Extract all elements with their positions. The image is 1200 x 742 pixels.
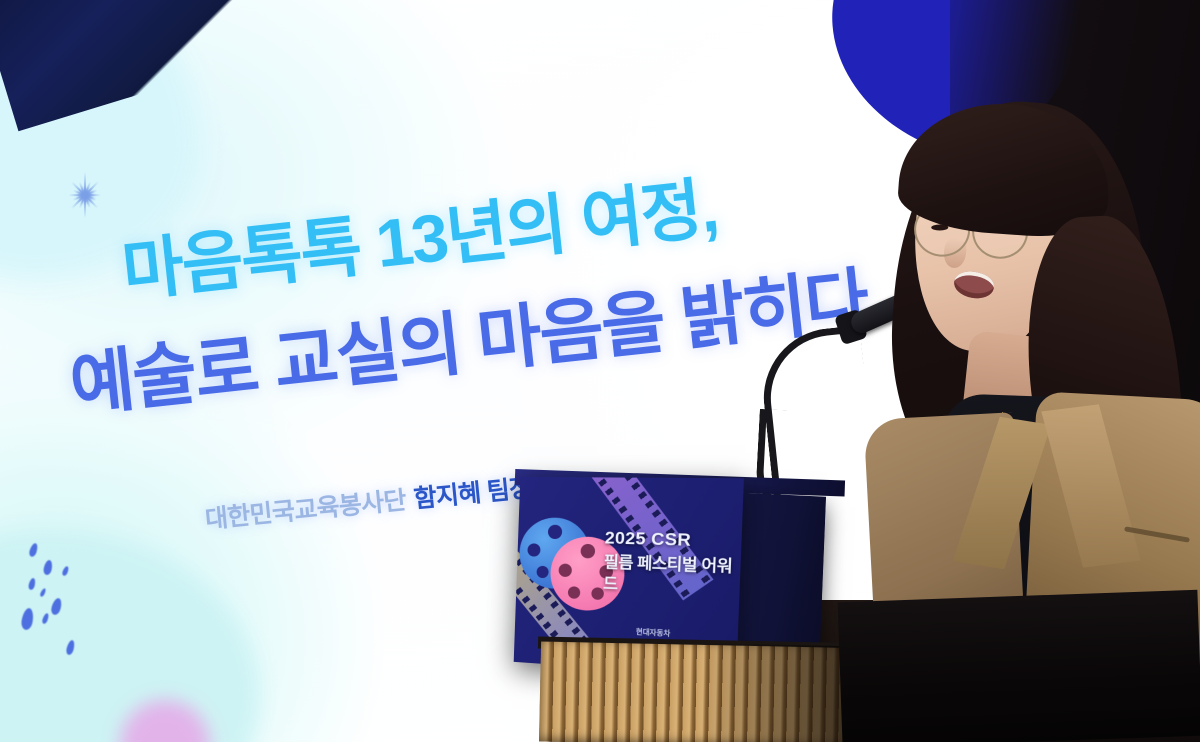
podium-sign-title: 2025 CSR 필름 페스티벌 어워드: [603, 527, 735, 601]
podium-sign-title-line1: 2025 CSR: [604, 527, 735, 554]
podium-sign-title-line2: 필름 페스티벌 어워드: [603, 553, 734, 601]
speaker-person: [880, 96, 1200, 656]
slide-speaker-org: 대한민국교육봉사단: [204, 486, 407, 534]
photo-stage: 마음톡톡 13년의 여정, 예술로 교실의 마음을 밝히다 대한민국교육봉사단함…: [0, 0, 1200, 742]
cyan-blob-bottom-left: [0, 530, 260, 742]
foreground-shadow: [838, 590, 1200, 742]
sparkle-icon: [48, 150, 122, 240]
